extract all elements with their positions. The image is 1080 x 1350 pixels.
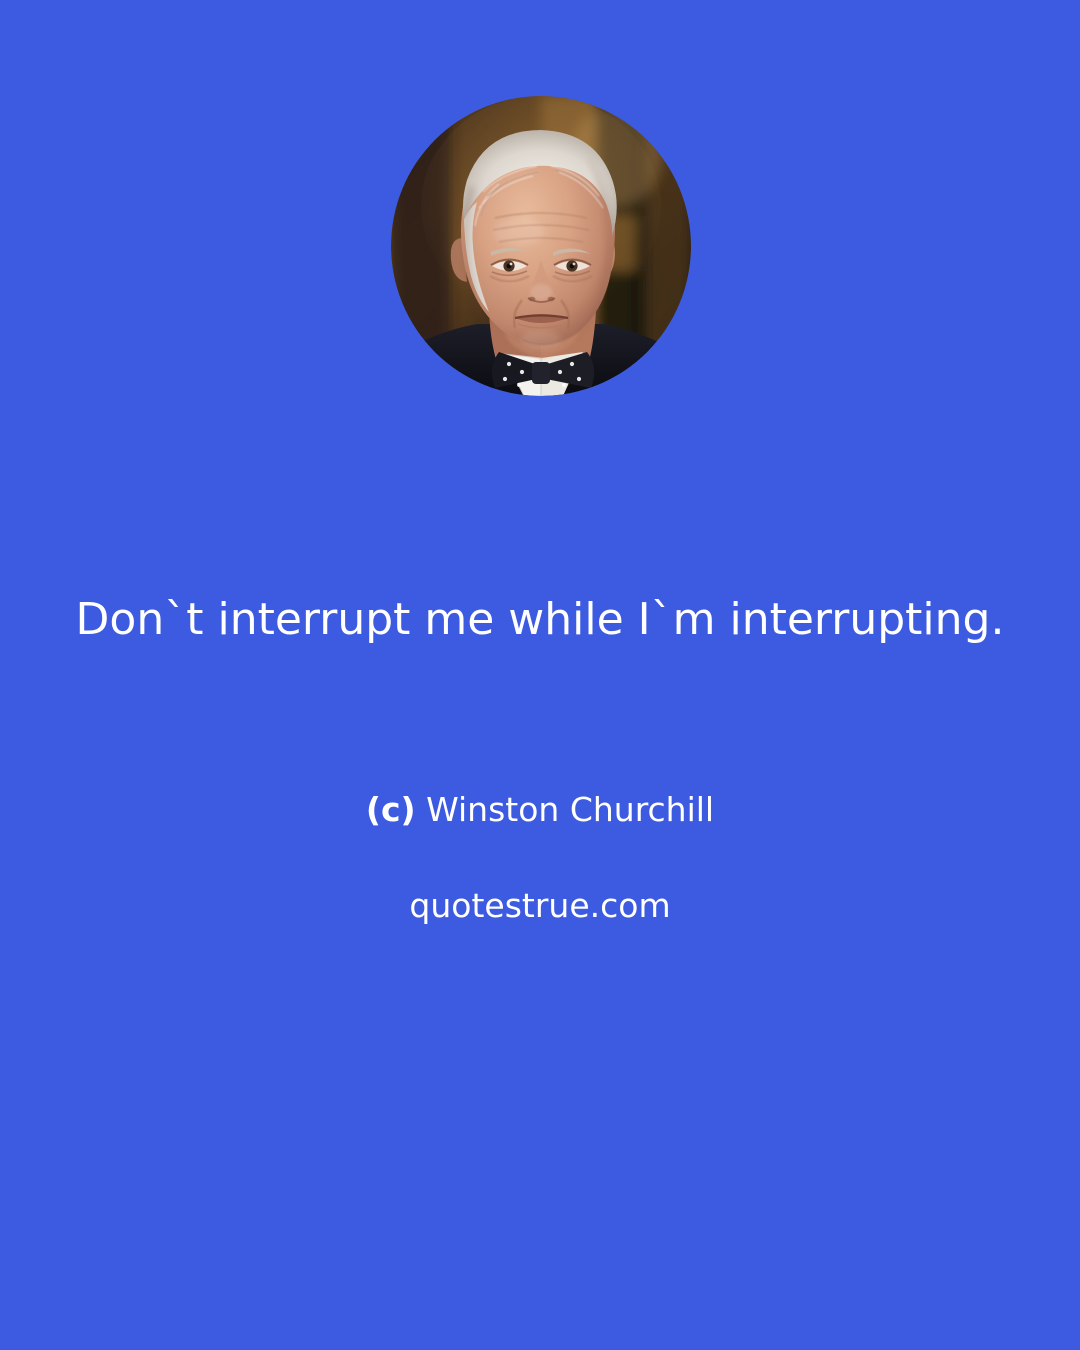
portrait-container <box>391 96 691 396</box>
winston-churchill-portrait <box>391 96 691 396</box>
quote-text: Don`t interrupt me while I`m interruptin… <box>0 592 1080 648</box>
attribution: (c) Winston Churchill <box>0 788 1080 832</box>
attribution-spacer <box>416 790 427 829</box>
author-name: Winston Churchill <box>426 790 714 829</box>
quote-card: Don`t interrupt me while I`m interruptin… <box>0 0 1080 1350</box>
website-url: quotestrue.com <box>0 884 1080 928</box>
copyright-mark: (c) <box>366 790 416 829</box>
